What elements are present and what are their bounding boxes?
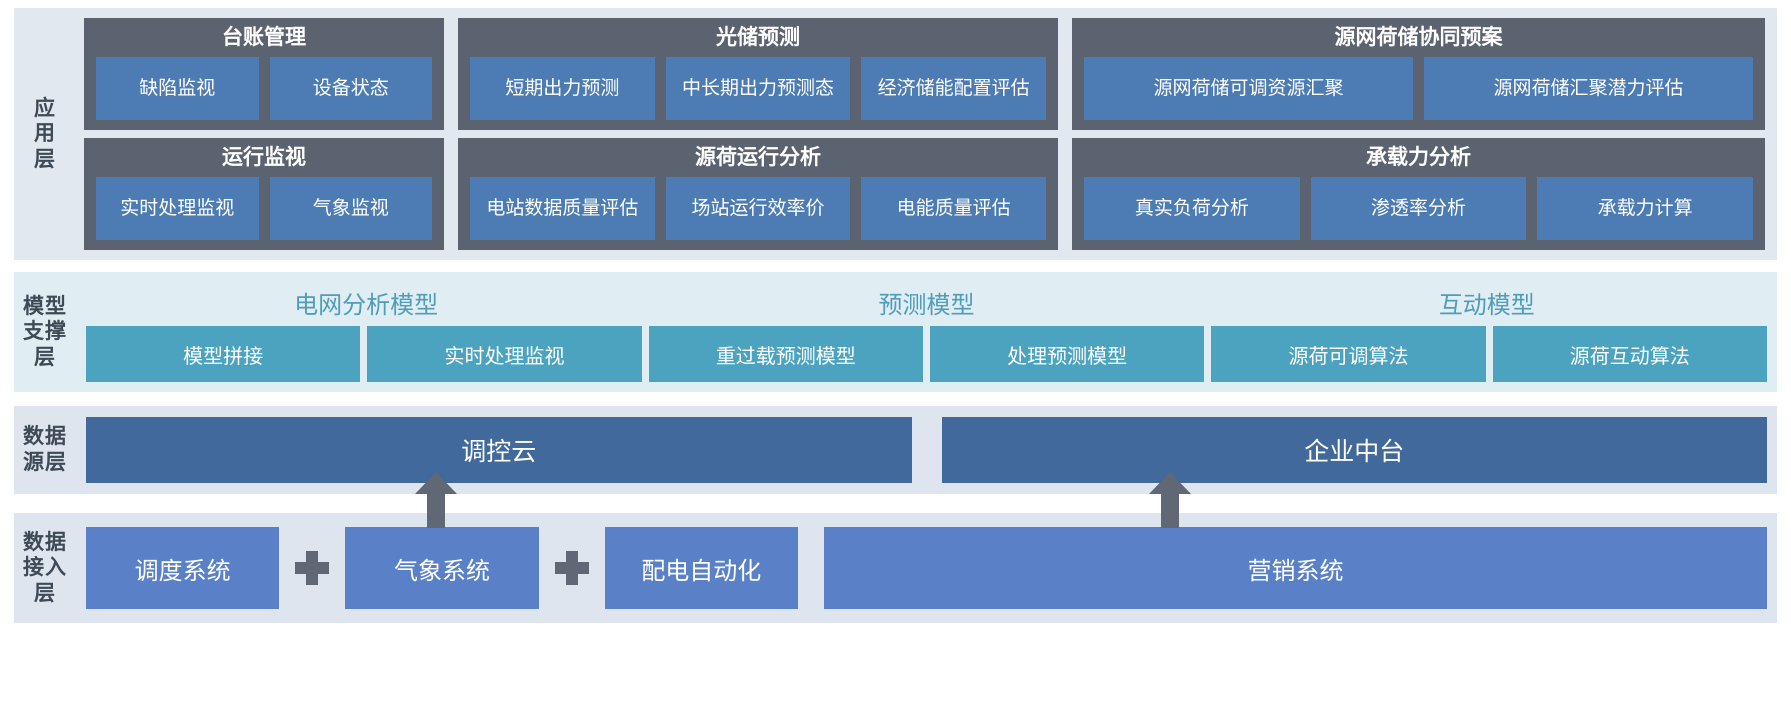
- app-group-items: 短期出力预测 中长期出力预测态 经济储能配置评估: [470, 57, 1046, 120]
- arrow-up-icon: [1149, 472, 1191, 528]
- application-layer-body: 台账管理 缺陷监视 设备状态 光储预测 短期出力预测 中长期出力预测态 经济储能…: [76, 8, 1777, 260]
- data-source-item-dispatch-cloud[interactable]: 调控云: [86, 417, 912, 483]
- model-support-layer: 模型 支撑 层 电网分析模型 预测模型 互动模型 模型拼接 实时处理监视 重过载…: [14, 272, 1777, 392]
- model-heading-interaction: 互动模型: [1207, 285, 1767, 320]
- spacer: [798, 527, 824, 609]
- app-item-station-data-quality-eval[interactable]: 电站数据质量评估: [470, 177, 655, 240]
- model-heading-forecast: 预测模型: [646, 285, 1206, 320]
- label-char: 层: [34, 581, 56, 607]
- model-headings: 电网分析模型 预测模型 互动模型: [86, 278, 1767, 326]
- app-item-equipment-status[interactable]: 设备状态: [270, 57, 433, 120]
- data-access-item-distribution-automation[interactable]: 配电自动化: [605, 527, 798, 609]
- plus-separator: [539, 527, 605, 609]
- app-group-title: 源荷运行分析: [470, 144, 1046, 172]
- app-item-carrying-capacity-calculation[interactable]: 承载力计算: [1537, 177, 1753, 240]
- label-char: 应: [34, 96, 56, 122]
- app-group-operation-monitoring[interactable]: 运行监视 实时处理监视 气象监视: [84, 138, 444, 250]
- app-group-items: 电站数据质量评估 场站运行效率价 电能质量评估: [470, 177, 1046, 240]
- data-access-layer-body: 调度系统 气象系统 配电自动化 营销系统: [76, 513, 1777, 623]
- model-item-source-load-adjustable-algorithm[interactable]: 源荷可调算法: [1211, 326, 1485, 382]
- app-group-title: 运行监视: [96, 144, 432, 172]
- app-item-station-operation-efficiency[interactable]: 场站运行效率价: [666, 177, 851, 240]
- app-item-mid-long-term-output-forecast[interactable]: 中长期出力预测态: [666, 57, 851, 120]
- label-char: 源层: [23, 450, 67, 476]
- app-group-items: 缺陷监视 设备状态: [96, 57, 432, 120]
- data-access-layer: 数据 接入 层 调度系统 气象系统 配电自动化 营销系统: [14, 513, 1777, 623]
- app-group-title: 光储预测: [470, 24, 1046, 52]
- label-char: 用: [34, 121, 56, 147]
- app-item-real-load-analysis[interactable]: 真实负荷分析: [1084, 177, 1300, 240]
- app-item-realtime-processing-monitoring[interactable]: 实时处理监视: [96, 177, 259, 240]
- model-support-layer-label: 模型 支撑 层: [14, 272, 76, 392]
- app-group-title: 台账管理: [96, 24, 432, 52]
- model-item-source-load-interaction-algorithm[interactable]: 源荷互动算法: [1493, 326, 1767, 382]
- application-layer: 应 用 层 台账管理 缺陷监视 设备状态 光储预测 短期出力预测 中长: [14, 8, 1777, 260]
- app-group-items: 源网荷储可调资源汇聚 源网荷储汇聚潜力评估: [1084, 57, 1753, 120]
- label-char: 层: [34, 147, 56, 173]
- app-group-items: 实时处理监视 气象监视: [96, 177, 432, 240]
- model-item-model-splicing[interactable]: 模型拼接: [86, 326, 360, 382]
- app-group-pv-storage-forecast[interactable]: 光储预测 短期出力预测 中长期出力预测态 经济储能配置评估: [458, 18, 1058, 130]
- model-support-layer-body: 电网分析模型 预测模型 互动模型 模型拼接 实时处理监视 重过载预测模型 处理预…: [76, 272, 1777, 392]
- label-char: 数据: [23, 424, 67, 450]
- model-items: 模型拼接 实时处理监视 重过载预测模型 处理预测模型 源荷可调算法 源荷互动算法: [86, 326, 1767, 382]
- app-group-title: 承载力分析: [1084, 144, 1753, 172]
- plus-separator: [279, 527, 345, 609]
- data-source-layer-body: 调控云 企业中台: [76, 406, 1777, 494]
- label-char: 模型: [23, 294, 67, 320]
- app-item-aggregation-potential-eval[interactable]: 源网荷储汇聚潜力评估: [1424, 57, 1753, 120]
- application-row-1: 台账管理 缺陷监视 设备状态 光储预测 短期出力预测 中长期出力预测态 经济储能…: [84, 18, 1765, 130]
- plus-icon: [295, 551, 329, 585]
- model-item-overload-forecast-model[interactable]: 重过载预测模型: [649, 326, 923, 382]
- app-item-defect-monitoring[interactable]: 缺陷监视: [96, 57, 259, 120]
- application-layer-label: 应 用 层: [14, 8, 76, 260]
- label-char: 层: [34, 345, 56, 371]
- model-heading-grid-analysis: 电网分析模型: [86, 285, 646, 320]
- label-char: 数据: [23, 530, 67, 556]
- app-group-source-load-operation-analysis[interactable]: 源荷运行分析 电站数据质量评估 场站运行效率价 电能质量评估: [458, 138, 1058, 250]
- data-source-layer-label: 数据 源层: [14, 406, 76, 494]
- data-access-item-dispatch-system[interactable]: 调度系统: [86, 527, 279, 609]
- app-item-economic-storage-config-eval[interactable]: 经济储能配置评估: [861, 57, 1046, 120]
- data-access-right-group: 营销系统: [824, 527, 1767, 609]
- app-group-carrying-capacity-analysis[interactable]: 承载力分析 真实负荷分析 渗透率分析 承载力计算: [1072, 138, 1765, 250]
- label-char: 支撑: [23, 319, 67, 345]
- app-item-adjustable-resource-aggregation[interactable]: 源网荷储可调资源汇聚: [1084, 57, 1413, 120]
- app-group-ledger-management[interactable]: 台账管理 缺陷监视 设备状态: [84, 18, 444, 130]
- arrow-up-icon: [415, 472, 457, 528]
- data-access-left-group: 调度系统 气象系统 配电自动化: [86, 527, 798, 609]
- app-item-penetration-rate-analysis[interactable]: 渗透率分析: [1311, 177, 1527, 240]
- plus-icon: [555, 551, 589, 585]
- app-group-title: 源网荷储协同预案: [1084, 24, 1753, 52]
- data-access-item-marketing-system[interactable]: 营销系统: [824, 527, 1767, 609]
- label-char: 接入: [23, 555, 67, 581]
- app-group-source-grid-load-storage-plan[interactable]: 源网荷储协同预案 源网荷储可调资源汇聚 源网荷储汇聚潜力评估: [1072, 18, 1765, 130]
- app-item-weather-monitoring[interactable]: 气象监视: [270, 177, 433, 240]
- model-item-processing-forecast-model[interactable]: 处理预测模型: [930, 326, 1204, 382]
- app-item-short-term-output-forecast[interactable]: 短期出力预测: [470, 57, 655, 120]
- model-item-realtime-processing-monitoring[interactable]: 实时处理监视: [367, 326, 641, 382]
- architecture-diagram: 应 用 层 台账管理 缺陷监视 设备状态 光储预测 短期出力预测 中长: [0, 0, 1791, 716]
- application-row-2: 运行监视 实时处理监视 气象监视 源荷运行分析 电站数据质量评估 场站运行效率价…: [84, 138, 1765, 250]
- app-item-power-quality-eval[interactable]: 电能质量评估: [861, 177, 1046, 240]
- data-source-layer: 数据 源层 调控云 企业中台: [14, 406, 1777, 494]
- data-access-layer-label: 数据 接入 层: [14, 513, 76, 623]
- app-group-items: 真实负荷分析 渗透率分析 承载力计算: [1084, 177, 1753, 240]
- data-source-item-enterprise-platform[interactable]: 企业中台: [942, 417, 1768, 483]
- data-access-item-weather-system[interactable]: 气象系统: [345, 527, 538, 609]
